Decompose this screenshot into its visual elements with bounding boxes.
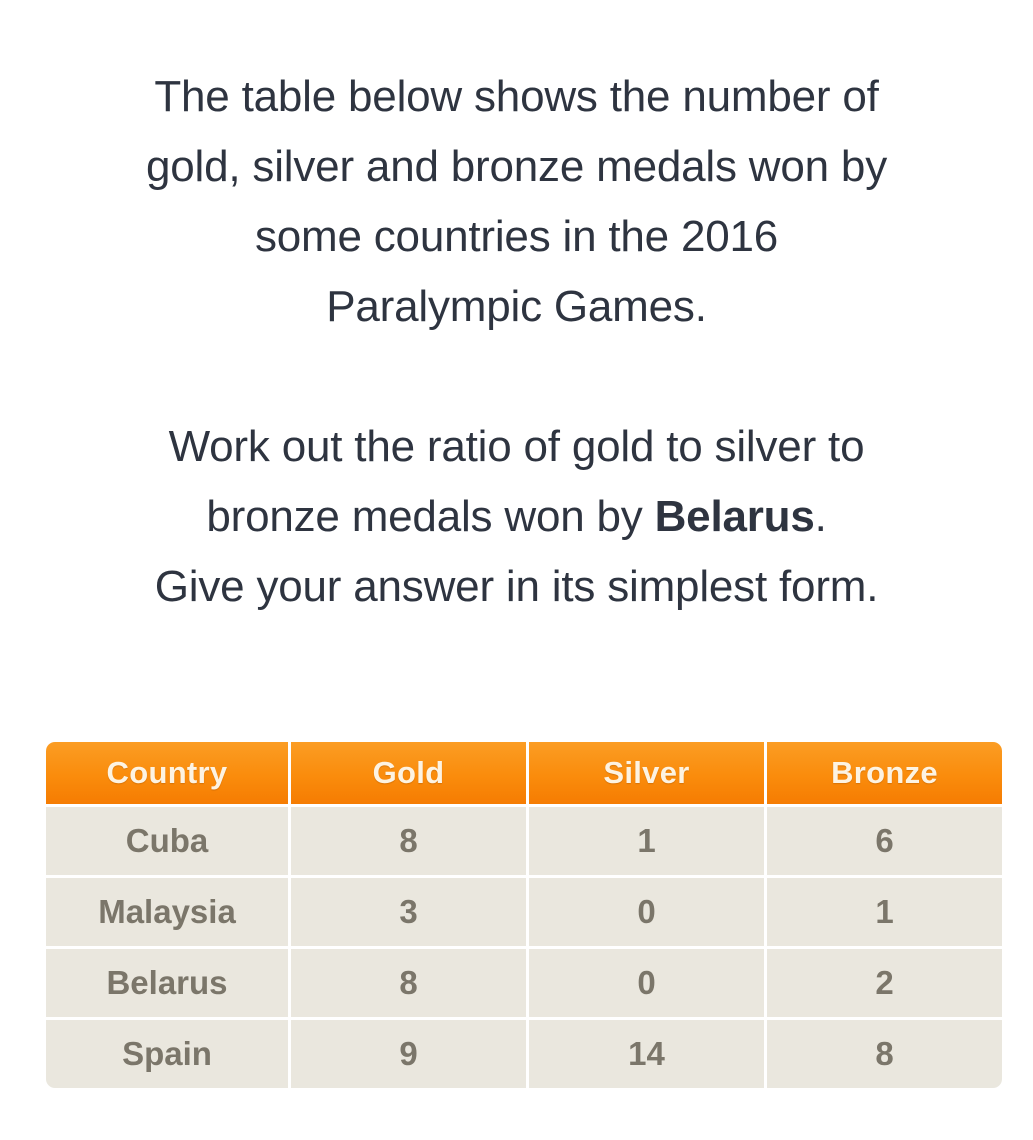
cell-gold: 9 [291, 1020, 526, 1088]
cell-gold: 8 [291, 807, 526, 875]
question-text-block: The table below shows the number of gold… [0, 62, 1033, 622]
column-header-gold: Gold [291, 742, 526, 804]
cell-bronze: 1 [767, 878, 1002, 946]
cell-country: Spain [46, 1020, 288, 1088]
cell-country: Cuba [46, 807, 288, 875]
paragraph-spacer [0, 342, 1033, 412]
cell-silver: 14 [529, 1020, 764, 1088]
column-header-country: Country [46, 742, 288, 804]
table-row: Malaysia 3 0 1 [46, 878, 1002, 946]
medal-table: Country Gold Silver Bronze Cuba 8 1 6 Ma… [43, 739, 1005, 1091]
question-line-prefix: bronze medals won by [206, 492, 654, 541]
question-line: gold, silver and bronze medals won by [6, 132, 1027, 202]
question-line: Give your answer in its simplest form. [6, 552, 1027, 622]
cell-country: Malaysia [46, 878, 288, 946]
question-line: Work out the ratio of gold to silver to [6, 412, 1027, 482]
emphasised-country-name: Belarus [655, 492, 815, 541]
cell-bronze: 8 [767, 1020, 1002, 1088]
table-row: Spain 9 14 8 [46, 1020, 1002, 1088]
table-header: Country Gold Silver Bronze [46, 742, 1002, 804]
table-row: Cuba 8 1 6 [46, 807, 1002, 875]
question-paragraph-1: The table below shows the number of gold… [0, 62, 1033, 342]
question-paragraph-2: Work out the ratio of gold to silver to … [0, 412, 1033, 622]
cell-bronze: 2 [767, 949, 1002, 1017]
cell-gold: 8 [291, 949, 526, 1017]
cell-silver: 0 [529, 878, 764, 946]
question-line: The table below shows the number of [6, 62, 1027, 132]
cell-bronze: 6 [767, 807, 1002, 875]
table-header-row: Country Gold Silver Bronze [46, 742, 1002, 804]
cell-country: Belarus [46, 949, 288, 1017]
question-line-suffix: . [815, 492, 827, 541]
cell-silver: 0 [529, 949, 764, 1017]
cell-gold: 3 [291, 878, 526, 946]
column-header-silver: Silver [529, 742, 764, 804]
table-body: Cuba 8 1 6 Malaysia 3 0 1 Belarus 8 0 2 … [46, 807, 1002, 1088]
cell-silver: 1 [529, 807, 764, 875]
question-line: Paralympic Games. [6, 272, 1027, 342]
question-line: some countries in the 2016 [6, 202, 1027, 272]
question-line-with-emphasis: bronze medals won by Belarus. [6, 482, 1027, 552]
table-row: Belarus 8 0 2 [46, 949, 1002, 1017]
column-header-bronze: Bronze [767, 742, 1002, 804]
